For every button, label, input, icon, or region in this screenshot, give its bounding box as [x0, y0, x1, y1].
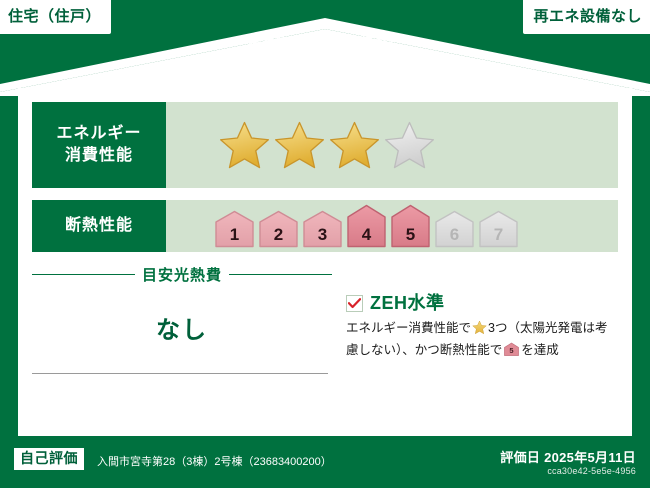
- utility-cost-value: なし: [32, 310, 332, 345]
- house-grade-inactive-icon: 6: [434, 210, 475, 248]
- heading-rule-left: [32, 274, 135, 275]
- zeh-desc-part2: 3つ（太陽光発電: [488, 321, 582, 335]
- zeh-desc-part4: を達成: [521, 343, 559, 357]
- energy-performance-label: 建築物省エネ法に基づく 省エネ性能ラベル 住宅（住戸） 再エネ設備なし エネルギ…: [0, 0, 650, 488]
- house-grade-active-icon: 2: [258, 210, 299, 248]
- house-grade-active-icon: 3: [302, 210, 343, 248]
- evaluation-hash: cca30e42-5e5e-4956: [547, 466, 636, 476]
- insulation-performance-label: 断熱性能: [32, 200, 166, 252]
- house-grade-number: 7: [494, 225, 503, 244]
- evaluation-date: 評価日 2025年5月11日: [500, 447, 636, 466]
- utility-cost-heading: 目安光熱費: [32, 264, 332, 285]
- energy-performance-label: エネルギー 消費性能: [32, 102, 166, 188]
- star-empty-icon: [383, 119, 436, 172]
- insulation-performance-row: 断熱性能 1234567: [32, 200, 618, 252]
- self-evaluation-badge: 自己評価: [14, 448, 84, 470]
- zeh-desc-part1: エネルギー消費性能で: [346, 321, 471, 335]
- house-grade-active-icon: 4: [346, 204, 387, 248]
- house-grade-active-icon: 5: [390, 204, 431, 248]
- insulation-label-text: 断熱性能: [65, 215, 133, 237]
- building-type-tag: 住宅（住戸）: [0, 0, 111, 34]
- house-grade-number: 1: [230, 225, 239, 244]
- house-grade-number: 5: [406, 225, 415, 244]
- zeh-section: ZEH水準 エネルギー消費性能で 3つ（太陽光発電は考慮しない）、かつ断熱性能で: [346, 294, 618, 364]
- label-footer: 自己評価 入間市宮寺第28（3棟）2号棟（23683400200） 評価日 20…: [0, 440, 650, 488]
- house-grade-number: 6: [450, 225, 459, 244]
- star-filled-icon: [328, 119, 381, 172]
- star-rating: [218, 119, 436, 172]
- zeh-title-row: ZEH水準: [346, 294, 618, 312]
- energy-performance-row: エネルギー 消費性能: [32, 102, 618, 188]
- heading-rule-right: [229, 274, 332, 275]
- house-grade-number: 4: [362, 225, 372, 244]
- insulation-performance-value: 1234567: [166, 200, 618, 252]
- energy-performance-value: [166, 102, 618, 188]
- label-body-card: エネルギー 消費性能 断熱性能 1234567 目安光熱費 なし: [18, 88, 632, 436]
- utility-cost-heading-text: 目安光熱費: [142, 264, 222, 285]
- zeh-title: ZEH水準: [370, 294, 445, 312]
- inline-house-badge-icon: 5: [503, 342, 520, 363]
- svg-text:5: 5: [510, 346, 514, 355]
- check-icon: [348, 298, 361, 309]
- inline-star-icon: [472, 320, 487, 341]
- energy-label-line2: 消費性能: [65, 145, 133, 167]
- zeh-checkbox: [346, 295, 363, 312]
- house-grade-scale: 1234567: [214, 204, 519, 248]
- house-grade-active-icon: 1: [214, 210, 255, 248]
- zeh-description: エネルギー消費性能で 3つ（太陽光発電は考慮しない）、かつ断熱性能で 5: [346, 319, 618, 364]
- star-filled-icon: [218, 119, 271, 172]
- building-info-text: 入間市宮寺第28（3棟）2号棟（23683400200）: [97, 453, 332, 469]
- star-filled-icon: [273, 119, 326, 172]
- renewable-energy-tag: 再エネ設備なし: [523, 0, 650, 34]
- utility-cost-section: 目安光熱費 なし: [32, 264, 332, 345]
- evaluation-date-label: 評価日: [500, 450, 540, 465]
- energy-label-line1: エネルギー: [56, 123, 141, 145]
- house-grade-inactive-icon: 7: [478, 210, 519, 248]
- evaluation-date-value: 2025年5月11日: [544, 450, 636, 465]
- utility-cost-divider: [32, 373, 328, 374]
- house-grade-number: 2: [274, 225, 283, 244]
- house-grade-number: 3: [318, 225, 327, 244]
